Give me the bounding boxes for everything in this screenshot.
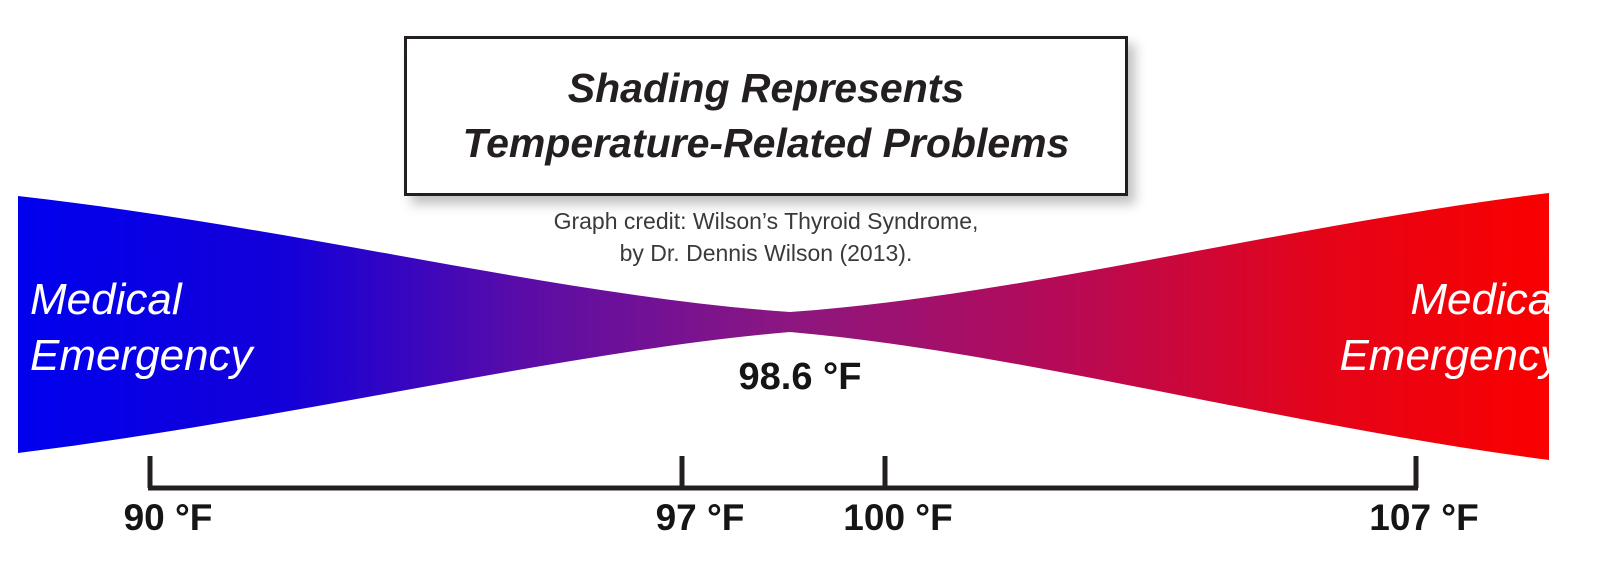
axis-tick-label-100: 100 °F xyxy=(843,497,952,539)
temperature-axis xyxy=(0,430,1600,510)
axis-tick-label-97: 97 °F xyxy=(656,497,745,539)
graph-credit-text: Graph credit: Wilson’s Thyroid Syndrome,… xyxy=(404,206,1128,269)
title-text: Shading Represents Temperature-Related P… xyxy=(449,61,1084,172)
normal-temperature-label: 98.6 °F xyxy=(700,356,900,399)
axis-tick-label-107: 107 °F xyxy=(1369,497,1478,539)
temperature-infographic: Medical Emergency Medical Emergency Shad… xyxy=(0,0,1600,567)
axis-tick-label-90: 90 °F xyxy=(124,497,213,539)
title-box: Shading Represents Temperature-Related P… xyxy=(404,36,1128,196)
